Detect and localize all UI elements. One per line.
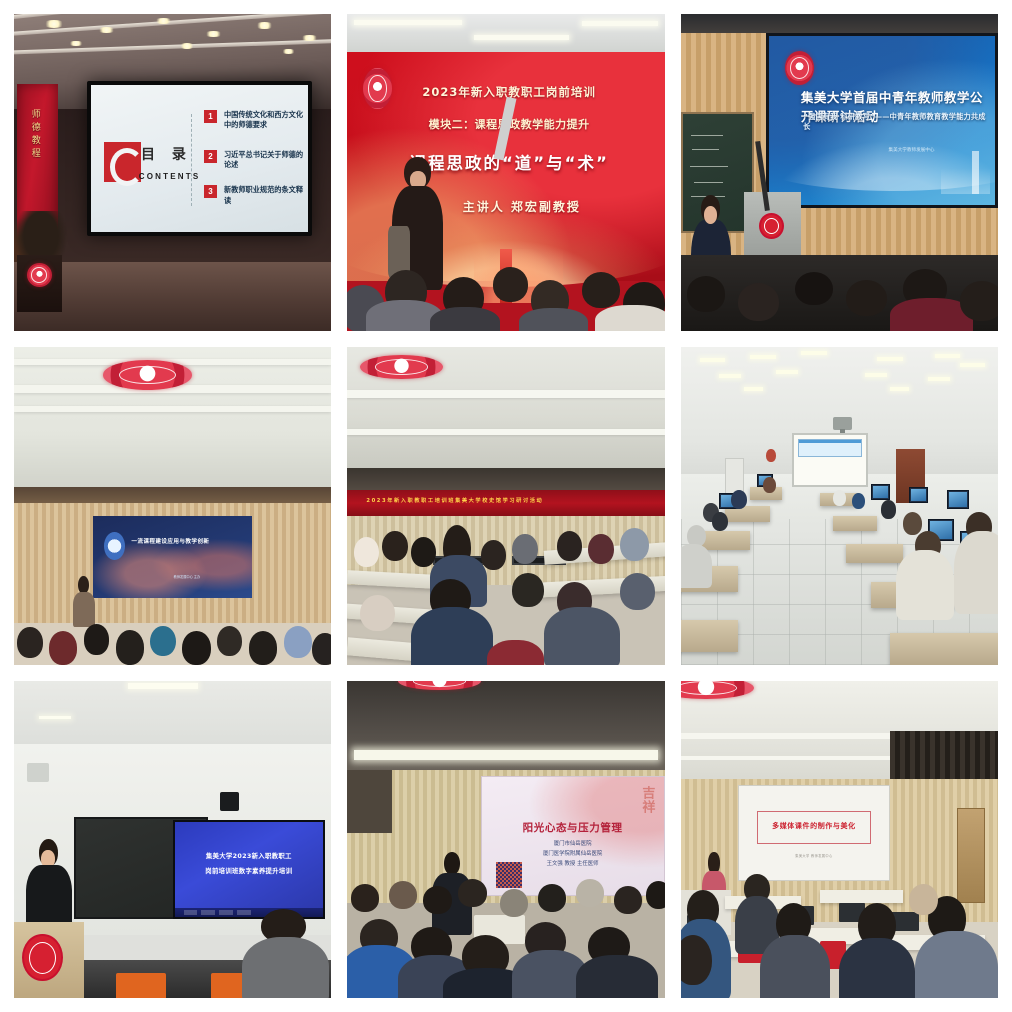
item-number: 1 bbox=[204, 110, 217, 123]
university-seal-icon bbox=[759, 213, 784, 240]
slide-line-1: 集美大学2023新入职教职工 bbox=[184, 851, 315, 862]
contents-c-logo bbox=[104, 142, 141, 182]
slide-credits: 厦门市仙岳医院 厦门医学院附属仙岳医院 王文强 教授 主任医师 bbox=[514, 839, 631, 869]
audience-row bbox=[217, 903, 331, 998]
slide-subtitle: “强国有我 科研教写”——中青年教师教育教学能力共成长 bbox=[803, 112, 993, 132]
speaker-box-icon bbox=[27, 763, 49, 782]
ceiling bbox=[347, 347, 664, 474]
item-text: 习近平总书记关于师德的论述 bbox=[224, 150, 308, 172]
ceiling-university-seal-icon bbox=[360, 355, 443, 379]
photo-auditorium-contents-slide[interactable]: 师德教程 目 录 CONTENTS 1 中国传统文化和西方文化中的师德要求 2 … bbox=[14, 14, 331, 331]
ceiling bbox=[14, 681, 331, 751]
slide-speaker: 王文强 教授 主任医师 bbox=[547, 861, 599, 867]
ceiling bbox=[347, 681, 664, 776]
slide-footer: 集美大学教师发展中心 bbox=[873, 147, 950, 155]
item-number: 3 bbox=[204, 185, 217, 198]
workstation-rows bbox=[681, 347, 998, 664]
slide-contents: 目 录 CONTENTS 1 中国传统文化和西方文化中的师德要求 2 习近平总书… bbox=[91, 85, 308, 232]
chair bbox=[116, 973, 167, 998]
university-seal-icon bbox=[363, 68, 392, 109]
projection-screen: 集美大学首届中青年教师教学公开课研讨活动 “强国有我 科研教写”——中青年教师教… bbox=[766, 33, 998, 208]
slide-org-2: 厦门医学院附属仙岳医院 bbox=[543, 851, 602, 857]
slide-course: 一流课程建设应用与教学创新 教师发展中心 主办 bbox=[93, 516, 252, 599]
ceiling-light bbox=[354, 750, 659, 760]
photo-blue-screen-seminar[interactable]: 集美大学首届中青年教师教学公开课研讨活动 “强国有我 科研教写”——中青年教师教… bbox=[681, 14, 998, 331]
slide-footer: 教师发展中心 主办 bbox=[147, 575, 226, 581]
camera-icon bbox=[220, 792, 239, 811]
projection-screen: 一流课程建设应用与教学创新 教师发展中心 主办 bbox=[93, 516, 252, 599]
divider bbox=[191, 114, 192, 205]
photo-discussion-room-banner[interactable]: 2023年新入职教职工培训班集美大学校史馆学习研讨活动 bbox=[347, 347, 664, 664]
projection-screen: 目 录 CONTENTS 1 中国传统文化和西方文化中的师德要求 2 习近平总书… bbox=[87, 81, 312, 236]
ceiling bbox=[14, 347, 331, 493]
photo-hall-course-construction[interactable]: 一流课程建设应用与教学创新 教师发展中心 主办 bbox=[14, 347, 331, 664]
ceiling-university-seal-icon bbox=[398, 681, 481, 691]
audience-seats bbox=[681, 255, 998, 331]
slide-title-cn: 目 录 bbox=[141, 144, 192, 164]
table-area bbox=[347, 512, 664, 664]
banner-vertical-text: 师德教程 bbox=[29, 109, 42, 161]
audience-rows bbox=[14, 595, 331, 665]
banner-text: 2023年新入职教职工培训班集美大学校史馆学习研讨活动 bbox=[366, 497, 658, 504]
item-text: 中国传统文化和西方文化中的师德要求 bbox=[224, 110, 308, 132]
item-text: 新教师职业规范的条文释读 bbox=[224, 185, 308, 207]
slide-seminar: 集美大学首届中青年教师教学公开课研讨活动 “强国有我 科研教写”——中青年教师教… bbox=[769, 36, 995, 205]
ceiling bbox=[347, 14, 664, 55]
ceiling-university-seal-icon bbox=[103, 360, 192, 389]
photo-classroom-digital-literacy[interactable]: 集美大学2023新入职教职工 岗前培训班数字素养提升培训 bbox=[14, 681, 331, 998]
podium bbox=[17, 255, 61, 312]
photo-collage-grid: 师德教程 目 录 CONTENTS 1 中国传统文化和西方文化中的师德要求 2 … bbox=[0, 0, 1012, 1012]
slide-line-2: 岗前培训班数字素养提升培训 bbox=[184, 866, 315, 877]
audience-rows bbox=[347, 871, 664, 998]
slide-badge-icon bbox=[104, 532, 125, 560]
wall-panel bbox=[347, 770, 391, 833]
photo-computer-lab-training[interactable] bbox=[681, 347, 998, 664]
stage-floor bbox=[14, 262, 331, 332]
photo-training-room-courseware[interactable]: 多媒体课件的制作与美化 集美大学 教师发展中心 bbox=[681, 681, 998, 998]
photo-lecture-hall-stress-management[interactable]: 吉祥 阳光心态与压力管理 厦门市仙岳医院 厦门医学院附属仙岳医院 王文强 教授 … bbox=[347, 681, 664, 998]
slide-org-1: 厦门市仙岳医院 bbox=[554, 841, 592, 847]
trainee-area bbox=[681, 681, 998, 998]
university-seal-icon bbox=[27, 263, 52, 287]
podium bbox=[14, 922, 84, 998]
university-seal-icon bbox=[785, 51, 814, 85]
photo-red-backdrop-lecture[interactable]: 2023年新入职教职工岗前培训 模块二：课程思政教学能力提升 课程思政的“道”与… bbox=[347, 14, 664, 331]
university-seal-icon bbox=[22, 934, 62, 981]
audience-row bbox=[347, 249, 664, 332]
item-number: 2 bbox=[204, 150, 217, 163]
slide-title: 一流课程建设应用与教学创新 bbox=[131, 537, 245, 545]
slide-title: 阳光心态与压力管理 bbox=[507, 820, 638, 835]
